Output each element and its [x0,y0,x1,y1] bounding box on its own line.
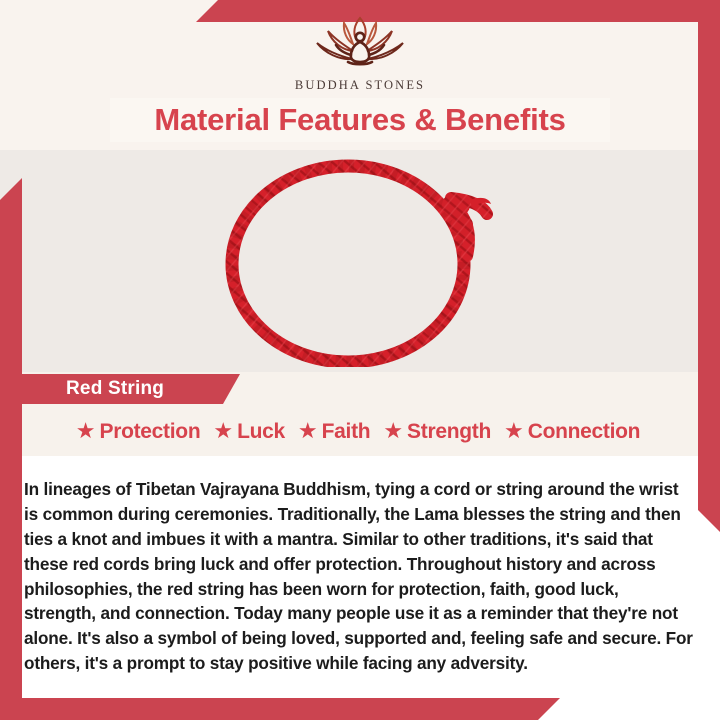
benefit-item: ★ Faith [298,420,370,444]
product-label-banner: Red String [18,374,240,404]
product-label: Red String [66,378,164,400]
description-text: In lineages of Tibetan Vajrayana Buddhis… [24,477,694,676]
brand-name: BUDDHA STONES [0,78,720,93]
benefit-item: ★ Strength [383,420,491,444]
frame-bar-bottom [0,698,560,720]
benefit-label: Luck [237,420,285,444]
product-image [0,152,720,372]
benefit-label: Protection [100,420,201,444]
infographic-card: BUDDHA STONES Material Features & Benefi… [0,0,720,720]
benefit-item: ★ Protection [76,420,201,444]
headline-banner: Material Features & Benefits [110,98,610,142]
benefit-item: ★ Luck [213,420,285,444]
star-icon: ★ [213,420,233,442]
lotus-meditation-icon [0,14,720,75]
brand-logo: BUDDHA STONES [0,14,720,93]
benefit-label: Strength [407,420,491,444]
star-icon: ★ [504,420,524,442]
benefit-label: Connection [528,420,641,444]
star-icon: ★ [383,420,403,442]
page-title: Material Features & Benefits [154,102,565,138]
benefits-row: ★ Protection ★ Luck ★ Faith ★ Strength ★… [22,420,694,444]
benefit-label: Faith [322,420,371,444]
star-icon: ★ [298,420,318,442]
star-icon: ★ [76,420,96,442]
benefit-item: ★ Connection [504,420,640,444]
